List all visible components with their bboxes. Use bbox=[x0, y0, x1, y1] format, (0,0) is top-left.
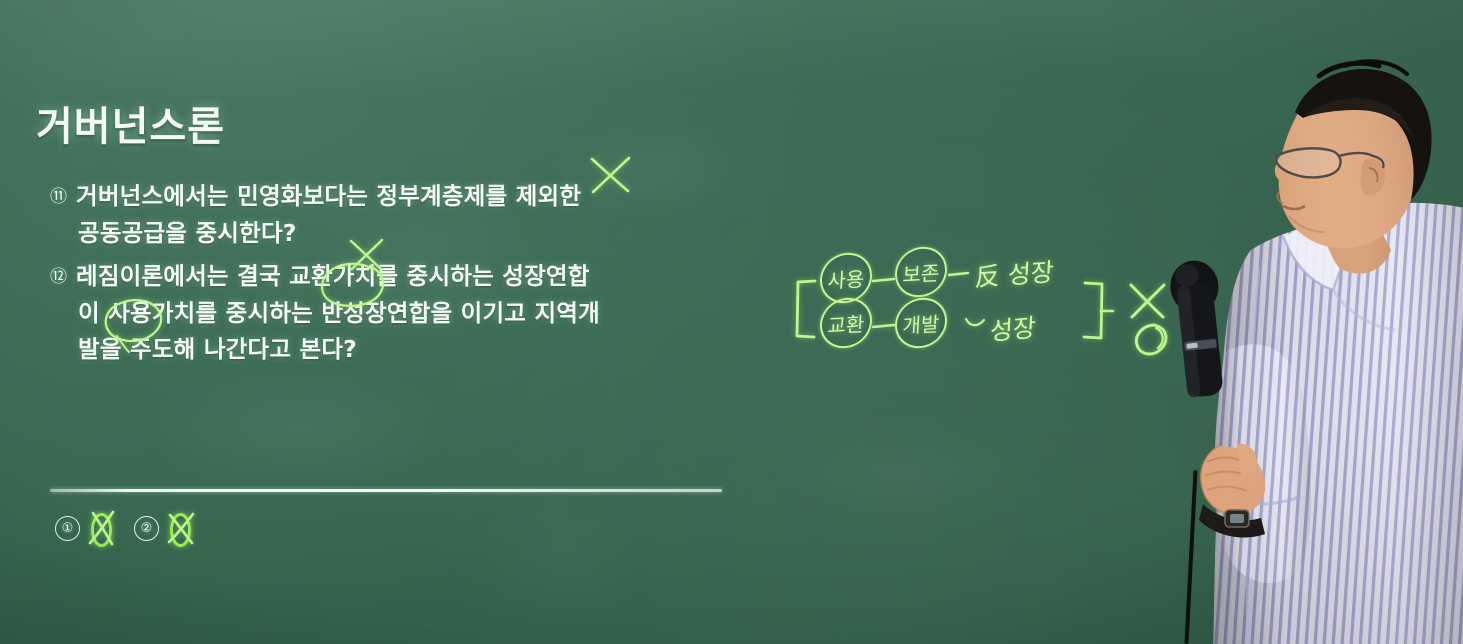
horizontal-separator-line bbox=[50, 489, 722, 492]
handwriting-circled-bojon: 보존 bbox=[894, 248, 948, 297]
question-12-line-1: 레짐이론에서는 결국 교환가치를 중시하는 성장연합 bbox=[76, 262, 590, 290]
handwriting-circled-gyohwan: 교환 bbox=[819, 299, 873, 348]
handwriting-result-growth: 성장 bbox=[989, 308, 1037, 348]
answer-mark-1 bbox=[86, 510, 120, 546]
answer-number-2: ② bbox=[134, 516, 159, 541]
question-block-11: ⑪거버넌스에서는 민영화보다는 정부계층제를 제외한 공동공급을 중시한다? bbox=[50, 178, 581, 251]
question-12-line-3: 발을 주도해 나간다고 본다? bbox=[50, 331, 600, 367]
lecture-video-frame: 거버넌스론 ⑪거버넌스에서는 민영화보다는 정부계층제를 제외한 공동공급을 중… bbox=[0, 0, 1463, 644]
answer-number-1: ① bbox=[55, 516, 80, 541]
instructor bbox=[1133, 0, 1463, 644]
handwriting-circled-gaebal: 개발 bbox=[894, 299, 948, 348]
question-number-11: ⑪ bbox=[50, 179, 76, 215]
answer-zero-1-icon bbox=[91, 513, 112, 547]
handwriting-circled-sayong: 사용 bbox=[819, 254, 873, 303]
question-12-line-2: 이 사용가치를 중시하는 반성장연합을 이기고 지역개 bbox=[50, 295, 600, 331]
answer-mark-2 bbox=[165, 510, 199, 546]
slide-title: 거버넌스론 bbox=[36, 94, 225, 152]
question-11-line-2: 공동공급을 중시한다? bbox=[50, 215, 581, 251]
question-11-line-1: 거버넌스에서는 민영화보다는 정부계층제를 제외한 bbox=[76, 182, 581, 210]
answer-zero-2-icon bbox=[170, 513, 191, 547]
question-block-12: ⑫레짐이론에서는 결국 교환가치를 중시하는 성장연합 이 사용가치를 중시하는… bbox=[50, 258, 600, 367]
question-number-12: ⑫ bbox=[50, 259, 76, 295]
handwriting-result-anti-growth: 反 성장 bbox=[974, 252, 1055, 294]
answer-row: ① ② bbox=[55, 508, 207, 548]
